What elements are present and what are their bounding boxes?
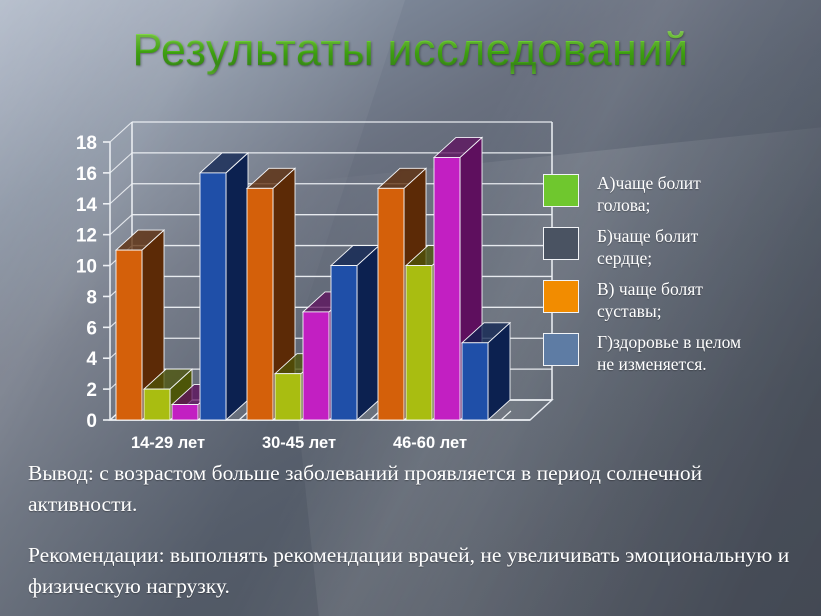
legend-item: Г)здоровье в целомне изменяется.: [543, 331, 815, 375]
x-tick-label: 30-45 лет: [262, 434, 336, 450]
x-tick-label: 14-29 лет: [131, 434, 205, 450]
y-tick-label: 12: [76, 226, 97, 247]
y-tick-label: 16: [76, 164, 97, 185]
chart-bars: [116, 137, 510, 420]
y-tick-label: 6: [86, 318, 97, 339]
y-tick-label: 2: [86, 380, 97, 401]
legend-item-label: Б)чаще болитсердце;: [597, 225, 698, 269]
gridline-connector: [110, 153, 132, 173]
gridline-connector: [110, 215, 132, 235]
conclusion-text: Вывод: с возрастом больше заболеваний пр…: [28, 458, 803, 519]
chart-x-tick-labels: 14-29 лет30-45 лет46-60 лет: [131, 434, 467, 450]
bar-side-face: [226, 153, 248, 420]
bar-front-face: [406, 266, 432, 420]
legend-item: Б)чаще болитсердце;: [543, 225, 815, 269]
y-tick-label: 0: [86, 411, 97, 432]
legend-swatch-green: [543, 174, 579, 207]
bar-front-face: [331, 266, 357, 420]
bar-side-face: [357, 246, 379, 420]
legend-item: В) чаще болятсуставы;: [543, 278, 815, 322]
recommendation-text: Рекомендации: выполнять рекомендации вра…: [28, 540, 803, 601]
bar-blue-14-29 лет: [200, 153, 248, 420]
bar-front-face: [247, 188, 273, 420]
legend-item-label: В) чаще болятсуставы;: [597, 278, 703, 322]
gridline-connector: [110, 122, 132, 142]
legend-item: А)чаще болитголова;: [543, 172, 815, 216]
chart-legend: А)чаще болитголова;Б)чаще болитсердце;В)…: [543, 172, 815, 384]
y-tick-label: 4: [86, 349, 97, 370]
legend-swatch-slateblue: [543, 333, 579, 366]
x-tick-label: 46-60 лет: [393, 434, 467, 450]
y-tick-label: 14: [76, 195, 98, 216]
bar-front-face: [378, 188, 404, 420]
y-tick-label: 18: [76, 133, 97, 154]
legend-item-label: А)чаще болитголова;: [597, 172, 701, 216]
bar-front-face: [172, 405, 198, 420]
chart-y-tick-labels: 024681012141618: [76, 133, 98, 432]
y-tick-label: 10: [76, 257, 97, 278]
bar-front-face: [200, 173, 226, 420]
bar-front-face: [462, 343, 488, 420]
legend-item-label: Г)здоровье в целомне изменяется.: [597, 331, 741, 375]
bar-blue-30-45 лет: [331, 246, 379, 420]
y-tick-label: 8: [86, 287, 97, 308]
slide-title: Результаты исследований: [0, 24, 821, 76]
bar-blue-46-60 лет: [462, 323, 510, 420]
bar-front-face: [303, 312, 329, 420]
legend-swatch-darkslate: [543, 227, 579, 260]
bar-front-face: [116, 250, 142, 420]
bar-front-face: [434, 157, 460, 420]
gridline-connector: [110, 184, 132, 204]
bar-front-face: [144, 389, 170, 420]
bar-front-face: [275, 374, 301, 420]
legend-swatch-orange: [543, 280, 579, 313]
